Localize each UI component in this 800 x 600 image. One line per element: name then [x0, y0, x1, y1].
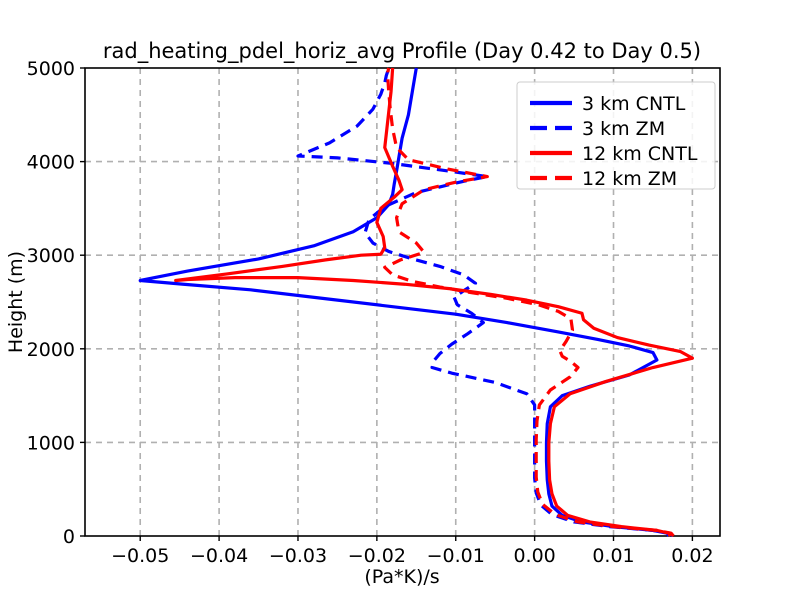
legend-label-2: 12 km CNTL — [582, 143, 698, 165]
xtick-label-2: −0.03 — [269, 545, 327, 567]
y-axis-label: Height (m) — [5, 251, 27, 353]
page-title: rad_heating_pdel_horiz_avg Profile (Day … — [103, 39, 701, 64]
chart-figure: −0.05−0.04−0.03−0.02−0.010.000.010.02010… — [0, 0, 800, 600]
xtick-label-3: −0.02 — [348, 545, 406, 567]
xtick-label-7: 0.02 — [671, 545, 713, 567]
xtick-label-1: −0.04 — [190, 545, 248, 567]
x-axis-label: (Pa*K)/s — [364, 566, 439, 588]
profile-chart: −0.05−0.04−0.03−0.02−0.010.000.010.02010… — [0, 0, 800, 600]
ytick-label-1: 1000 — [27, 432, 75, 454]
legend-label-3: 12 km ZM — [582, 168, 677, 190]
legend-label-1: 3 km ZM — [582, 118, 665, 140]
ytick-label-2: 2000 — [27, 339, 75, 361]
xtick-label-0: −0.05 — [111, 545, 169, 567]
chart-legend[interactable]: 3 km CNTL3 km ZM12 km CNTL12 km ZM — [517, 82, 715, 190]
xtick-label-5: 0.00 — [513, 545, 555, 567]
xtick-label-6: 0.01 — [592, 545, 634, 567]
ytick-label-3: 3000 — [27, 245, 75, 267]
legend-label-0: 3 km CNTL — [582, 93, 686, 115]
ytick-label-5: 5000 — [27, 58, 75, 80]
ytick-label-4: 4000 — [27, 152, 75, 174]
xtick-label-4: −0.01 — [427, 545, 485, 567]
ytick-label-0: 0 — [63, 526, 75, 548]
